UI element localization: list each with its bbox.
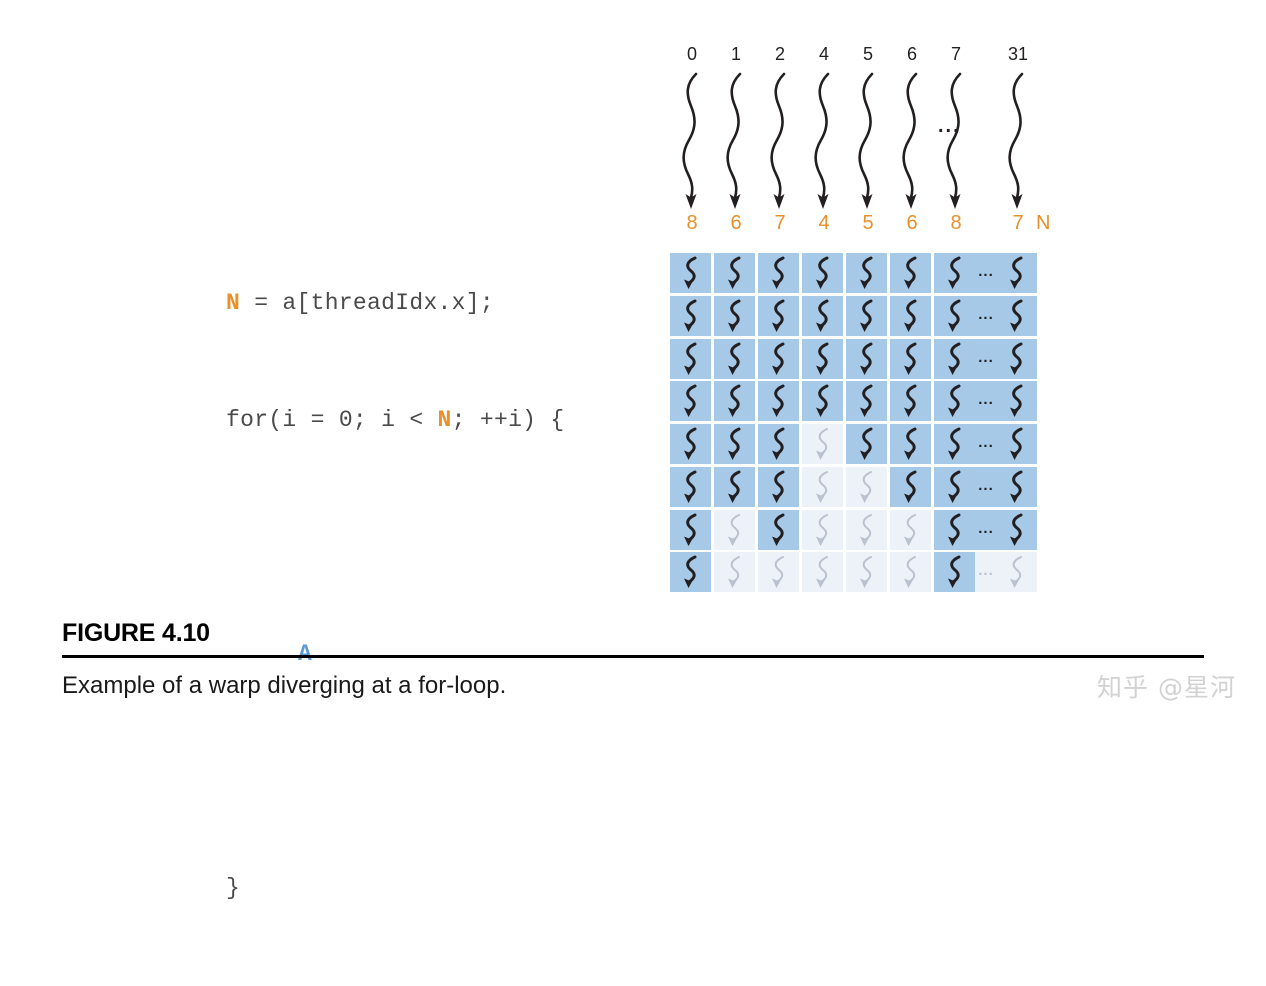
n-value-31: 7 [996, 212, 1040, 235]
grid-cell-active [670, 424, 711, 464]
grid-ellipsis-label: ... [975, 521, 997, 536]
n-value-row: 86745687 [670, 212, 1018, 242]
grid-cell-active [758, 467, 799, 507]
grid-cell-active [934, 424, 975, 464]
grid-cell-active [934, 552, 975, 592]
grid-cell-inactive [758, 552, 799, 592]
watermark: 知乎 @星河 [1097, 668, 1236, 704]
grid-cell-active [996, 339, 1037, 379]
grid-cell-active [758, 296, 799, 336]
grid-cell-active [670, 510, 711, 550]
grid-cell-active [714, 296, 755, 336]
n-value-1: 6 [714, 212, 758, 235]
caption-divider [62, 655, 1204, 658]
grid-ellipsis-label: ... [975, 264, 997, 279]
grid-cell-active [670, 552, 711, 592]
thread-column-2: 2 [758, 44, 802, 210]
grid-row: ... [670, 296, 1018, 339]
grid-cell-active [714, 424, 755, 464]
thread-column-4: 4 [802, 44, 846, 210]
grid-cell-inactive [714, 510, 755, 550]
grid-row: ... [670, 253, 1018, 296]
grid-cell-ellipsis: ... [975, 381, 997, 421]
code-var-n-cond: N [438, 407, 452, 433]
thread-index-label: 5 [846, 44, 890, 65]
figure-caption-text: Example of a warp diverging at a for-loo… [62, 671, 1204, 701]
n-value-5: 5 [846, 212, 890, 235]
code-line-5-blank [226, 752, 564, 791]
grid-cell-inactive [802, 467, 843, 507]
grid-row: ... [670, 424, 1018, 467]
code-line-2-post: ; ++i) { [452, 407, 565, 433]
grid-cell-active [846, 424, 887, 464]
code-line-2: for(i = 0; i < N; ++i) { [226, 401, 564, 440]
grid-cell-active [758, 339, 799, 379]
n-value-6: 6 [890, 212, 934, 235]
grid-cell-inactive [846, 467, 887, 507]
thread-header: 012456731 [670, 44, 1018, 210]
grid-cell-active [996, 510, 1037, 550]
grid-cell-inactive [802, 510, 843, 550]
code-var-n-assign: N [226, 290, 240, 316]
thread-column-0: 0 [670, 44, 714, 210]
thread-column-5: 5 [846, 44, 890, 210]
thread-column-1: 1 [714, 44, 758, 210]
grid-cell-active [996, 253, 1037, 293]
grid-cell-inactive [802, 424, 843, 464]
thread-index-label: 0 [670, 44, 714, 65]
thread-header-ellipsis: ... [938, 115, 961, 138]
thread-column-31: 31 [996, 44, 1040, 210]
grid-cell-active [758, 381, 799, 421]
code-listing: N = a[threadIdx.x]; for(i = 0; i < N; ++… [226, 206, 564, 986]
grid-row: ... [670, 381, 1018, 424]
grid-row: ... [670, 552, 1018, 595]
grid-row: ... [670, 467, 1018, 510]
grid-cell-active [996, 381, 1037, 421]
grid-cell-active [802, 339, 843, 379]
code-line-3-blank [226, 518, 564, 557]
grid-cell-ellipsis: ... [975, 552, 997, 592]
thread-arrow-icon [846, 70, 890, 210]
n-value-0: 8 [670, 212, 714, 235]
code-line-6-close: } [226, 869, 564, 908]
thread-arrow-icon [758, 70, 802, 210]
grid-cell-inactive [846, 552, 887, 592]
grid-cell-active [802, 381, 843, 421]
grid-cell-active [996, 467, 1037, 507]
thread-arrow-icon [996, 70, 1040, 210]
thread-arrow-icon [890, 70, 934, 210]
execution-grid: ........................ [670, 253, 1018, 595]
grid-ellipsis-label: ... [975, 478, 997, 493]
grid-row: ... [670, 339, 1018, 382]
grid-cell-active [802, 253, 843, 293]
thread-index-label: 7 [934, 44, 978, 65]
n-value-7: 8 [934, 212, 978, 235]
grid-cell-active [934, 339, 975, 379]
grid-cell-inactive [890, 510, 931, 550]
grid-cell-active [890, 339, 931, 379]
grid-cell-active [846, 339, 887, 379]
thread-arrow-icon [802, 70, 846, 210]
thread-arrow-icon [714, 70, 758, 210]
grid-ellipsis-label: ... [975, 392, 997, 407]
grid-cell-inactive [714, 552, 755, 592]
grid-cell-active [670, 339, 711, 379]
grid-cell-active [758, 424, 799, 464]
grid-cell-active [996, 424, 1037, 464]
grid-cell-ellipsis: ... [975, 424, 997, 464]
grid-cell-active [996, 296, 1037, 336]
grid-cell-active [758, 510, 799, 550]
grid-cell-ellipsis: ... [975, 339, 997, 379]
grid-cell-active [758, 253, 799, 293]
figure-caption-block: FIGURE 4.10 Example of a warp diverging … [62, 618, 1204, 701]
code-line-1-rest: = a[threadIdx.x]; [240, 290, 494, 316]
grid-cell-active [890, 253, 931, 293]
grid-cell-active [714, 339, 755, 379]
code-line-1: N = a[threadIdx.x]; [226, 284, 564, 323]
thread-index-label: 31 [996, 44, 1040, 65]
grid-cell-active [714, 381, 755, 421]
figure-illustration: N = a[threadIdx.x]; for(i = 0; i < N; ++… [0, 0, 1266, 608]
grid-cell-active [934, 253, 975, 293]
thread-arrow-icon [934, 70, 978, 210]
grid-cell-inactive [996, 552, 1037, 592]
grid-cell-ellipsis: ... [975, 253, 997, 293]
thread-index-label: 4 [802, 44, 846, 65]
thread-arrow-icon [670, 70, 714, 210]
n-value-2: 7 [758, 212, 802, 235]
grid-cell-active [890, 467, 931, 507]
grid-cell-active [714, 253, 755, 293]
grid-cell-active [890, 296, 931, 336]
thread-column-6: 6 [890, 44, 934, 210]
thread-index-label: 6 [890, 44, 934, 65]
grid-cell-ellipsis: ... [975, 467, 997, 507]
grid-ellipsis-label: ... [975, 307, 997, 322]
grid-ellipsis-label: ... [975, 435, 997, 450]
thread-index-label: 2 [758, 44, 802, 65]
grid-cell-active [670, 381, 711, 421]
n-value-4: 4 [802, 212, 846, 235]
grid-cell-active [934, 467, 975, 507]
grid-cell-active [934, 381, 975, 421]
grid-ellipsis-label: ... [975, 350, 997, 365]
grid-cell-inactive [846, 510, 887, 550]
grid-cell-active [846, 296, 887, 336]
grid-cell-active [670, 296, 711, 336]
grid-cell-active [670, 253, 711, 293]
thread-index-label: 1 [714, 44, 758, 65]
grid-cell-active [846, 381, 887, 421]
grid-cell-active [714, 467, 755, 507]
grid-cell-active [890, 424, 931, 464]
grid-cell-active [846, 253, 887, 293]
grid-cell-ellipsis: ... [975, 510, 997, 550]
grid-cell-inactive [890, 552, 931, 592]
figure-number: FIGURE 4.10 [62, 618, 1204, 648]
grid-cell-active [934, 296, 975, 336]
grid-row: ... [670, 510, 1018, 553]
grid-cell-active [802, 296, 843, 336]
grid-cell-ellipsis: ... [975, 296, 997, 336]
grid-cell-active [890, 381, 931, 421]
n-row-label: N [1036, 212, 1050, 235]
code-line-2-pre: for(i = 0; i < [226, 407, 438, 433]
grid-ellipsis-label: ... [975, 563, 997, 578]
grid-cell-active [934, 510, 975, 550]
grid-cell-active [670, 467, 711, 507]
grid-cell-inactive [802, 552, 843, 592]
